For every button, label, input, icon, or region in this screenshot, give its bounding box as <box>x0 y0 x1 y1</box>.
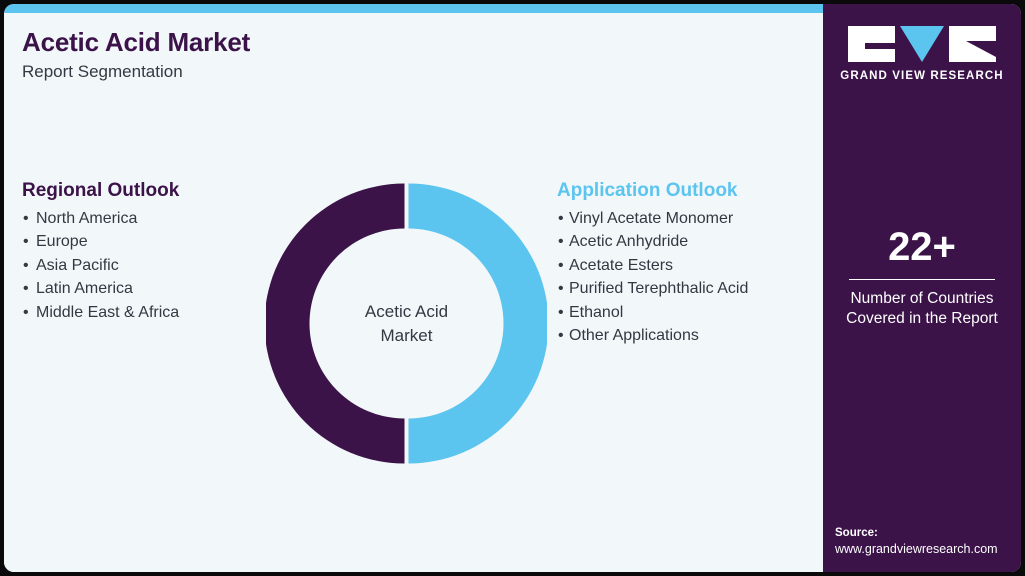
stat-caption: Number of Countries Covered in the Repor… <box>823 289 1021 329</box>
countries-stat-block: 22+ Number of Countries Covered in the R… <box>823 226 1021 329</box>
stat-divider <box>849 279 995 280</box>
regional-outlook-list: North America Europe Asia Pacific Latin … <box>22 207 262 325</box>
list-item: Middle East & Africa <box>22 301 262 325</box>
stat-caption-line2: Covered in the Report <box>823 309 1021 329</box>
infographic-card: Acetic Acid Market Report Segmentation R… <box>4 4 1021 572</box>
source-label: Source: <box>835 525 1021 541</box>
source-block: Source: www.grandviewresearch.com <box>835 525 1021 558</box>
logo-g-icon <box>848 26 895 62</box>
page-title: Acetic Acid Market <box>22 28 250 57</box>
title-block: Acetic Acid Market Report Segmentation <box>22 28 250 81</box>
donut-slice-regional <box>266 184 405 464</box>
stat-number: 22+ <box>823 226 1021 268</box>
list-item: Europe <box>22 230 262 254</box>
list-item: Asia Pacific <box>22 254 262 278</box>
application-outlook-list: Vinyl Acetate Monomer Acetic Anhydride A… <box>557 207 819 348</box>
list-item: North America <box>22 207 262 231</box>
source-url[interactable]: www.grandviewresearch.com <box>835 541 1021 558</box>
top-accent-bar <box>4 4 823 13</box>
list-item: Purified Terephthalic Acid <box>557 277 819 301</box>
donut-slice-application <box>409 184 548 464</box>
donut-svg <box>266 183 547 464</box>
brand-side-panel: GRAND VIEW RESEARCH 22+ Number of Countr… <box>823 4 1021 572</box>
list-item: Other Applications <box>557 324 819 348</box>
brand-wordmark: GRAND VIEW RESEARCH <box>823 70 1021 82</box>
stat-caption-line1: Number of Countries <box>823 289 1021 309</box>
list-item: Ethanol <box>557 301 819 325</box>
main-content-area: Acetic Acid Market Report Segmentation R… <box>4 13 823 572</box>
page-subtitle: Report Segmentation <box>22 63 250 82</box>
list-item: Latin America <box>22 277 262 301</box>
brand-logo: GRAND VIEW RESEARCH <box>823 26 1021 82</box>
infographic-root: Acetic Acid Market Report Segmentation R… <box>0 0 1025 576</box>
gvr-logo-icon <box>848 26 996 62</box>
logo-r-icon <box>949 26 996 62</box>
logo-v-icon <box>900 26 944 62</box>
gvr-logo-svg <box>848 26 996 62</box>
segmentation-donut-chart: Acetic Acid Market <box>266 183 547 464</box>
list-item: Acetic Anhydride <box>557 230 819 254</box>
regional-outlook-heading: Regional Outlook <box>22 179 262 203</box>
list-item: Vinyl Acetate Monomer <box>557 207 819 231</box>
application-outlook-heading: Application Outlook <box>557 179 819 203</box>
regional-outlook-section: Regional Outlook North America Europe As… <box>22 179 262 324</box>
application-outlook-section: Application Outlook Vinyl Acetate Monome… <box>557 179 819 348</box>
list-item: Acetate Esters <box>557 254 819 278</box>
